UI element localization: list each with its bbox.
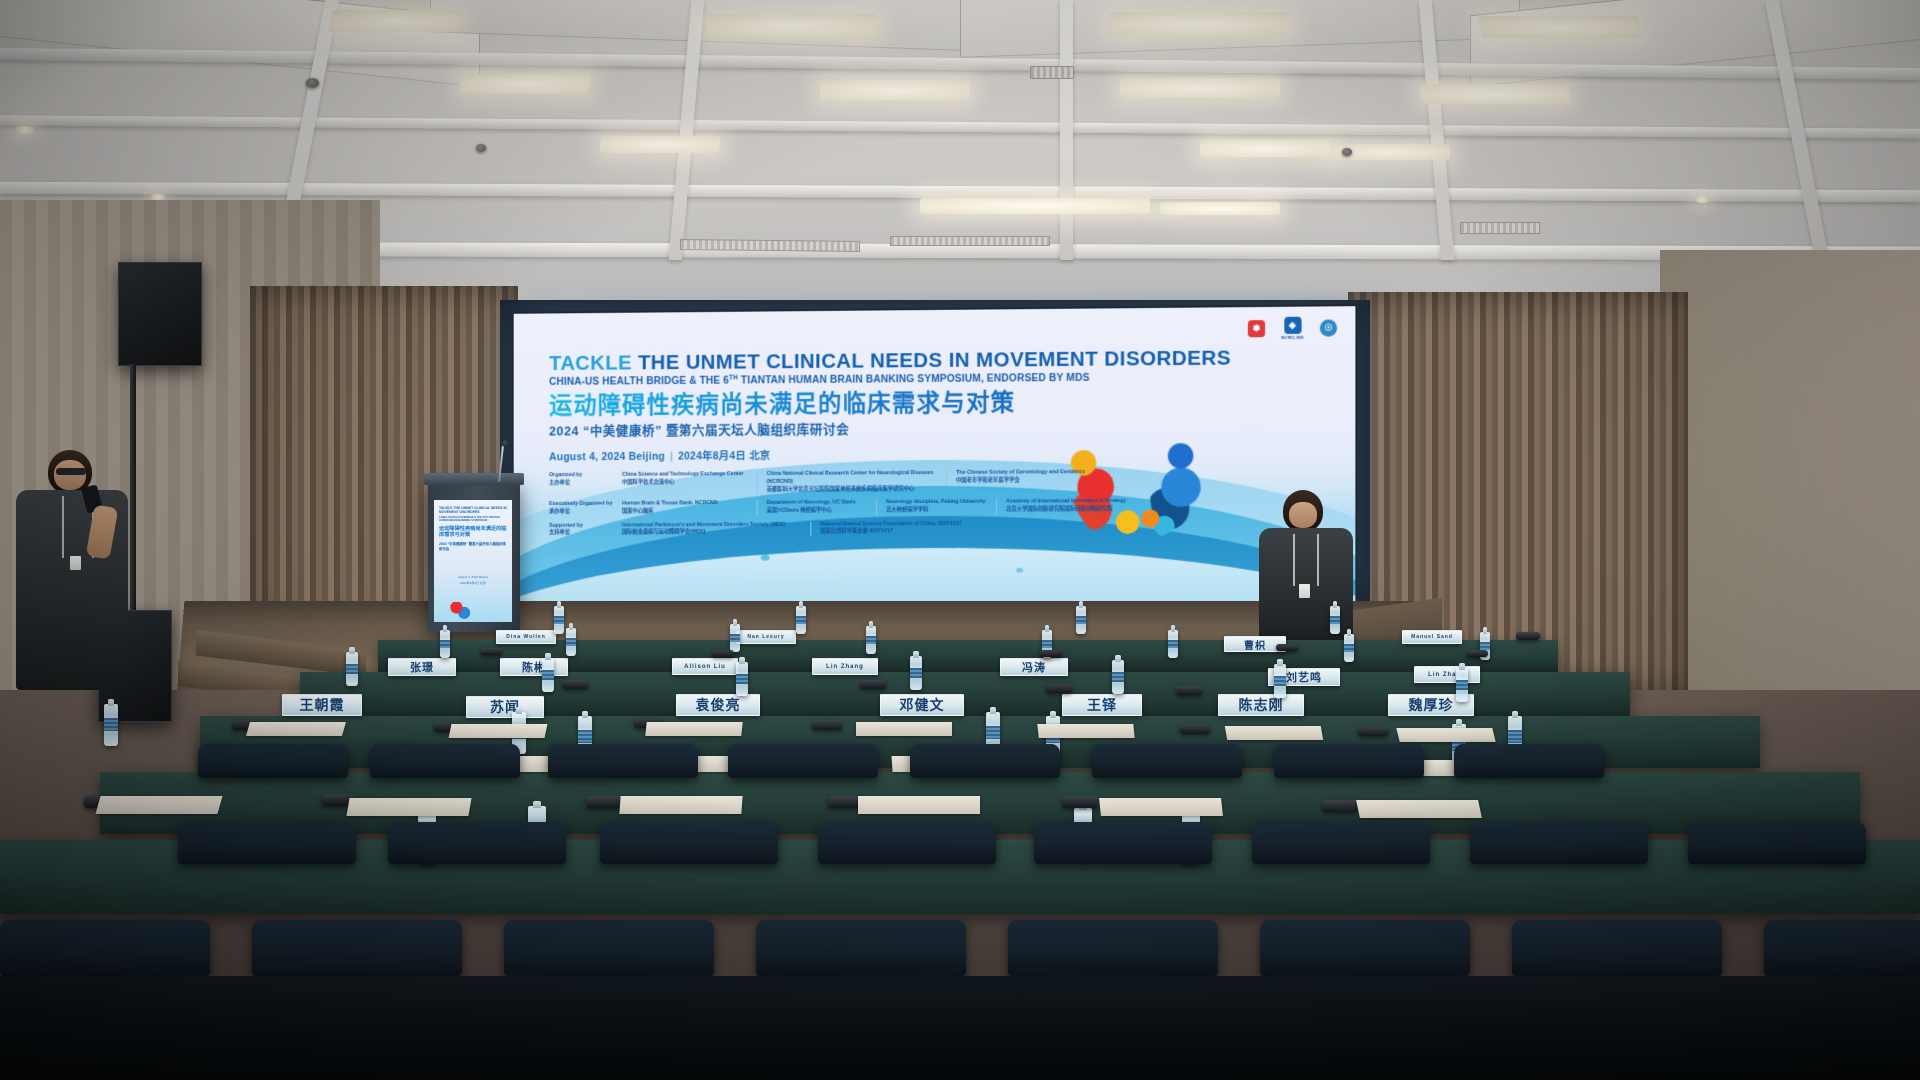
podium-mic-icon [502, 440, 509, 447]
water-bottle [1344, 634, 1354, 662]
credits-cell: Academy of International Innovation & St… [996, 498, 1147, 514]
water-bottle [1112, 660, 1124, 694]
audience-chair[interactable] [370, 744, 520, 778]
attendee-left-face [54, 460, 86, 490]
credits-label-cn: 承办单位 [549, 509, 622, 517]
water-bottle [542, 658, 554, 692]
slide-subtitle-en-sup: TH [729, 374, 738, 381]
water-bottle [104, 704, 118, 746]
nameplate: 王铎 [1062, 694, 1142, 716]
water-bottle [730, 624, 740, 652]
water-bottle [1274, 664, 1286, 698]
nameplate-label: 曹枳 [1244, 637, 1266, 652]
credits-cell: Human Brain & Tissue Bank, NCRCND 国家中心脑库 [622, 500, 757, 516]
water-bottle [440, 630, 450, 658]
delegate-microphone[interactable] [1466, 650, 1488, 657]
water-bottle [1168, 630, 1178, 658]
ncrc-nd-logo-mark: ◈ [1284, 317, 1301, 334]
brain-institute-logo: ✽ [1248, 320, 1265, 338]
tiantan-hospital-logo: ☉ [1320, 319, 1337, 337]
delegate-microphone[interactable] [1062, 796, 1098, 808]
audience-chair[interactable] [756, 920, 966, 976]
nameplate-label: 魏厚珍 [1409, 695, 1454, 715]
credits-cell-cn: 北大神经病学学科 [886, 507, 987, 515]
audience-chair[interactable] [728, 744, 878, 778]
nameplate-label: Manuel Sand [1411, 634, 1453, 640]
programme-sheet [1099, 798, 1223, 816]
nameplate-label: 王朝霞 [300, 695, 345, 715]
attendee-left-glasses-icon [56, 468, 86, 475]
programme-sheet [619, 796, 742, 814]
nameplate-label: Nan Lesury [747, 634, 784, 640]
nameplate: Lin Zhang [812, 658, 878, 675]
credits-cell: China National Clinical Research Center … [757, 470, 946, 494]
credits-cell-en: Department of Neurology, UC Davis [767, 500, 856, 506]
ncrc-nd-logo-caption: NCRC-ND [1281, 335, 1303, 340]
audience-chair[interactable] [1252, 822, 1430, 864]
programme-sheet [1356, 800, 1482, 818]
water-bottle [346, 652, 358, 686]
credits-label-en: Supported by [549, 522, 583, 528]
credits-cell-en: National Natural Science Foundation of C… [820, 521, 961, 528]
nameplate: 王朝霞 [282, 694, 362, 716]
programme-sheet [95, 796, 222, 814]
nameplate-label: Allison Liu [684, 664, 726, 670]
nameplate: 袁俊亮 [676, 694, 760, 716]
audience-chair[interactable] [178, 822, 356, 864]
water-bottle [796, 606, 806, 634]
podium: TACKLE THE UNMET CLINICAL NEEDS IN MOVEM… [428, 480, 520, 632]
slide-credits-table: Organized by 主办单位 China Science and Tech… [549, 468, 1272, 537]
audience-chair[interactable] [1008, 920, 1218, 976]
credits-row-label: Executively Organized by 承办单位 [549, 501, 622, 517]
nameplate-label: 邓健文 [900, 695, 945, 715]
audience-chair[interactable] [1688, 822, 1866, 864]
credits-cell: The Chinese Society of Gerontology and G… [946, 469, 1096, 485]
programme-sheet [1037, 724, 1134, 738]
pa-speaker-top [118, 262, 202, 366]
nameplate: Manuel Sand [1402, 630, 1462, 644]
credits-label-cn: 支持单位 [549, 530, 622, 538]
audience-chair[interactable] [1764, 920, 1920, 976]
audience-chair[interactable] [1454, 744, 1604, 778]
credits-cell-en: International Parkinson's and Movement D… [622, 521, 785, 528]
credits-label-en: Executively Organized by [549, 501, 612, 507]
programme-sheet [246, 722, 346, 736]
podium-sign: TACKLE THE UNMET CLINICAL NEEDS IN MOVEM… [434, 500, 512, 622]
programme-sheet [645, 722, 742, 736]
slide-subtitle-en-head: CHINA-US HEALTH BRIDGE & THE 6 [549, 376, 729, 388]
programme-sheet [858, 796, 980, 814]
credits-cell: International Parkinson's and Movement D… [622, 521, 810, 537]
credits-row: Organized by 主办单位 China Science and Tech… [549, 468, 1272, 495]
ncrc-nd-logo: ◈ NCRC-ND [1281, 317, 1303, 340]
slide-date-en: August 4, 2024 Beijing [549, 452, 665, 464]
attendee-right-lanyard [1317, 534, 1319, 586]
delegate-microphone[interactable] [1358, 726, 1388, 736]
water-bottle [736, 662, 748, 696]
credits-cell-cn: 首都医科大学北京天坛医院国家神经系统疾病临床医学研究中心 [767, 486, 937, 495]
delegate-microphone[interactable] [860, 680, 886, 689]
credits-cell-en: China National Clinical Research Center … [767, 470, 934, 485]
credits-cell-en: China Science and Technology Exchange Ce… [622, 472, 743, 479]
nameplate: 邓健文 [880, 694, 964, 716]
credits-cell: Neurology discipline, Peking University … [876, 499, 996, 515]
attendee-left-badge [70, 556, 81, 570]
audience-chair[interactable] [198, 744, 348, 778]
attendee-right-face [1289, 502, 1317, 528]
nameplate: 冯涛 [1000, 658, 1068, 676]
slide-title-cn: 运动障碍性疾病尚未满足的临床需求与对策 [549, 387, 1309, 419]
podium-sign-runner-graphic [446, 602, 472, 620]
nameplate: 陈志刚 [1218, 694, 1304, 716]
podium-sign-date-cn: 2024年8月4日 北京 [439, 581, 507, 585]
credits-row: Supported by 支持单位 International Parkinso… [549, 519, 1272, 538]
water-bottle [554, 606, 564, 634]
nameplate: 苏闻 [466, 696, 544, 718]
audience-chair[interactable] [0, 920, 210, 976]
programme-sheet [449, 724, 548, 738]
audience-chair[interactable] [1092, 744, 1242, 778]
nameplate: Dina Wollen [496, 630, 556, 644]
nameplate-label: 袁俊亮 [696, 695, 741, 715]
attendee-left-lanyard [62, 496, 64, 558]
water-bottle [566, 628, 576, 656]
credits-label-cn: 主办单位 [549, 480, 622, 488]
slide-date-cn: 2024年8月4日 北京 [678, 451, 770, 463]
delegate-microphone[interactable] [1176, 686, 1202, 695]
audience-chair[interactable] [504, 920, 714, 976]
podium-sign-date: August 4, 2024 Beijing [439, 575, 507, 579]
audience-chair[interactable] [1260, 920, 1470, 976]
audience-chair[interactable] [910, 744, 1060, 778]
attendee-right-lanyard [1293, 534, 1295, 586]
delegate-microphone[interactable] [1516, 632, 1540, 640]
slide-title-en-lead: TACKLE [549, 351, 632, 375]
credits-label-en: Organized by [549, 472, 582, 478]
nameplate-label: 刘艺鸣 [1286, 669, 1322, 685]
credits-row-label: Organized by 主办单位 [549, 472, 622, 488]
brain-institute-logo-mark: ✽ [1248, 320, 1265, 337]
delegate-microphone[interactable] [562, 680, 588, 689]
nameplate: Allison Liu [672, 658, 738, 675]
attendee-left-standing [12, 450, 132, 810]
programme-sheet [1225, 726, 1323, 740]
credits-cell-cn: 美国UCDavis 神经病学中心 [767, 507, 868, 515]
podium-top-surface [424, 473, 524, 485]
slide-subtitle-cn: 2024 “中美健康桥” 暨第六届天坛人脑组织库研讨会 [549, 416, 1309, 440]
attendee-right-badge [1299, 584, 1310, 598]
credits-cell-en: Academy of International Innovation & St… [1006, 498, 1126, 505]
nameplate-label: 王铎 [1087, 695, 1117, 715]
water-bottle [1330, 606, 1340, 634]
slide-content: ✽ ◈ NCRC-ND ☉ TACKLE THE UNMET CLINICAL … [514, 306, 1356, 607]
programme-sheet [1396, 728, 1495, 742]
nameplate: Nan Lesury [736, 630, 796, 644]
audience-chair[interactable] [600, 822, 778, 864]
credits-cell-cn: 国家自然科学基金委 82071417 [820, 528, 1091, 537]
delegate-microphone[interactable] [1046, 684, 1072, 693]
credits-cell-cn: 中国科学技术交流中心 [622, 479, 748, 487]
water-bottle [866, 626, 876, 654]
credits-cell-en: Human Brain & Tissue Bank, NCRCND [622, 501, 718, 507]
audience-chair[interactable] [252, 920, 462, 976]
slide-title-en-rest: THE UNMET CLINICAL NEEDS IN MOVEMENT DIS… [638, 347, 1231, 375]
nameplate-label: 冯涛 [1022, 659, 1046, 675]
water-drop-2 [1016, 568, 1023, 573]
water-bottle [1456, 668, 1468, 702]
credits-cell-cn: 北京大学国际创新研究院国际创新战略研究院 [1006, 506, 1138, 514]
slide-text-block: TACKLE THE UNMET CLINICAL NEEDS IN MOVEM… [549, 347, 1309, 544]
credits-cell: Department of Neurology, UC Davis 美国UCDa… [757, 500, 876, 516]
water-drop-1 [761, 555, 770, 561]
audience-chair[interactable] [818, 822, 996, 864]
slide-date-separator: | [670, 452, 673, 463]
audience-chair[interactable] [1274, 744, 1424, 778]
credits-cell: China Science and Technology Exchange Ce… [622, 471, 757, 487]
programme-sheet [856, 722, 952, 736]
podium-sign-title-en: TACKLE THE UNMET CLINICAL NEEDS IN MOVEM… [439, 506, 507, 515]
nameplate: 陈彬 [500, 658, 568, 676]
podium-sign-subtitle-cn: 2024 “中美健康桥” 暨第六届天坛人脑组织库研讨会 [439, 541, 507, 551]
presentation-screen: ✽ ◈ NCRC-ND ☉ TACKLE THE UNMET CLINICAL … [512, 304, 1358, 609]
credits-cell-en: The Chinese Society of Gerontology and G… [956, 470, 1085, 477]
nameplate-label: 张璟 [410, 659, 434, 675]
delegate-microphone[interactable] [1276, 644, 1298, 651]
nameplate: Lin Zhang [1414, 666, 1480, 683]
delegate-microphone[interactable] [480, 648, 502, 655]
slide-logo-group: ✽ ◈ NCRC-ND ☉ [1248, 316, 1337, 340]
delegate-microphone[interactable] [586, 796, 622, 808]
audience-chair[interactable] [1512, 920, 1722, 976]
audience-chair[interactable] [388, 822, 566, 864]
tiantan-hospital-logo-mark: ☉ [1320, 319, 1337, 336]
nameplate-label: Dina Wollen [506, 634, 546, 640]
delegate-microphone[interactable] [1180, 724, 1210, 734]
delegate-microphone[interactable] [1322, 800, 1358, 812]
podium-sign-subtitle-en: CHINA-US HEALTH BRIDGE & THE 6TH TIANTAN… [439, 516, 507, 523]
water-bottle [1076, 606, 1086, 634]
credits-cell-cn: 中国老年学和老年医学学会 [956, 477, 1087, 485]
credits-row: Executively Organized by 承办单位 Human Brai… [549, 498, 1272, 517]
slide-subtitle-en-tail: TIANTAN HUMAN BRAIN BANKING SYMPOSIUM, E… [738, 373, 1090, 387]
credits-cell-en: Neurology discipline, Peking University [886, 499, 985, 506]
nameplate-label: Lin Zhang [826, 664, 864, 670]
delegate-microphone[interactable] [812, 720, 842, 730]
podium-sign-title-cn: 运动障碍性疾病尚未满足的临床需求与对策 [439, 526, 507, 540]
nameplate-label: 陈志刚 [1239, 695, 1284, 715]
audience-chair[interactable] [1470, 822, 1648, 864]
water-bottle [910, 656, 922, 690]
delegate-microphone[interactable] [1040, 650, 1062, 657]
credits-cell-cn: 国家中心脑库 [622, 508, 748, 516]
credits-cell-cn: 国际帕金森病与运动障碍学会(MDS) [622, 529, 801, 537]
conference-room-photo: ✽ ◈ NCRC-ND ☉ TACKLE THE UNMET CLINICAL … [0, 0, 1920, 1080]
delegate-microphone[interactable] [712, 650, 734, 657]
nameplate: 张璟 [388, 658, 456, 676]
credits-cell: National Natural Science Foundation of C… [810, 520, 1100, 537]
foreground-shadow-band [0, 976, 1920, 1080]
slide-date-line: August 4, 2024 Beijing|2024年8月4日 北京 [549, 444, 1309, 464]
audience-chair[interactable] [548, 744, 698, 778]
programme-sheet [346, 798, 471, 816]
audience-chair[interactable] [1034, 822, 1212, 864]
credits-row-label: Supported by 支持单位 [549, 522, 622, 538]
